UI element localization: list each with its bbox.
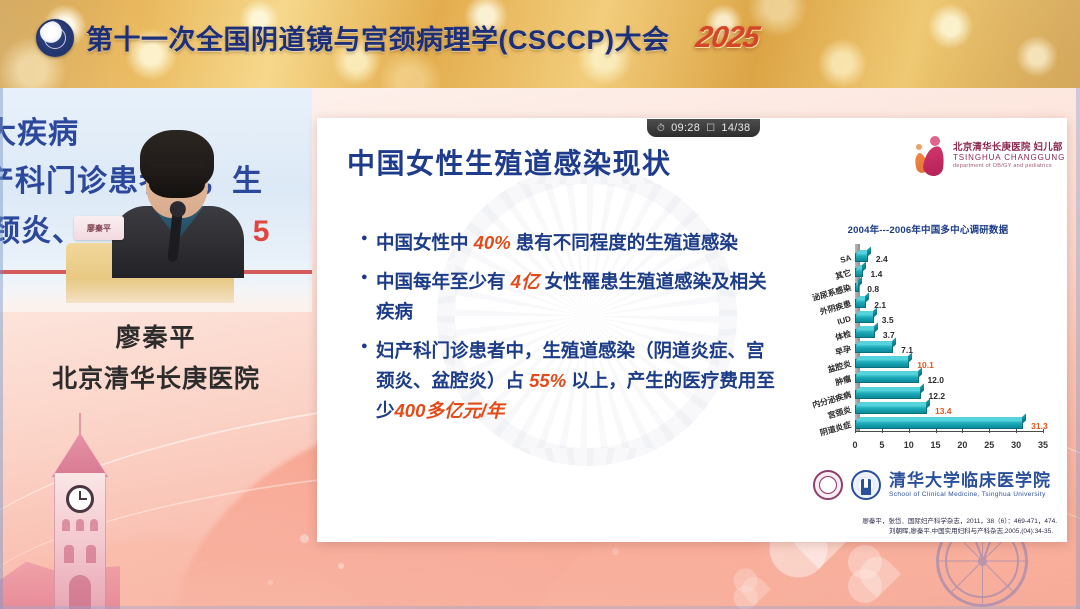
video-bottom-fade [0,278,312,312]
chart-bar: 12.0 [855,374,919,383]
tower-clock-icon [66,485,94,513]
banner-title: 第十一次全国阴道镜与宫颈病理学(CSCCP)大会 [86,18,670,57]
chart-tick-label: 30 [1011,440,1021,450]
banner-glow-right [930,0,1080,88]
chart-value-label: 12.0 [927,375,944,385]
chart-bar-row: 体检3.7 [855,326,1043,341]
chart-category-label: 肿瘤 [834,374,852,389]
slide-footer: 清华大学临床医学院 School of Clinical Medicine, T… [747,470,1057,536]
logo-department: department of OB/GY and pediatrics [953,163,1065,169]
bullet-highlight: 4亿 [511,271,540,292]
banner-content: 第十一次全国阴道镜与宫颈病理学(CSCCP)大会 2025 [36,18,758,57]
bokeh-dot [338,563,344,569]
hospital-logo: 北京清华长庚医院 妇儿部 TSINGHUA CHANGGUNG departme… [913,130,1053,182]
chart-bar-row: 早孕7.1 [855,341,1043,356]
page-indicator: 14/38 [721,122,750,134]
chart-category-label: IUD [837,314,853,326]
bullet-highlight: 40% [474,232,511,253]
survey-bar-chart: 2004年---2006年中国多中心调研数据 SA2.4其它1.4泌尿系感染0.… [797,222,1059,474]
chart-category-label: 阴道炎症 [819,419,853,438]
tower-window [62,519,70,531]
bg-screen-text: 大疾病 [0,108,79,152]
chart-tick [989,429,990,433]
bullet-text-post: 患有不同程度的生殖道感染 [511,232,738,253]
chart-tick-label: 20 [957,440,967,450]
chart-tick-label: 25 [984,440,994,450]
chart-value-label: 2.4 [876,254,888,264]
footer-logos: 清华大学临床医学院 School of Clinical Medicine, T… [813,470,1051,500]
bokeh-dot [612,548,619,555]
slide-title: 中国女性生殖道感染现状 [347,142,672,182]
page-icon: ☐ [706,123,715,134]
logo-name-en: TSINGHUA CHANGGUNG [953,154,1065,163]
logo-flower-icon [913,136,947,176]
chart-value-label: 0.8 [867,284,879,294]
tower-window [86,545,96,563]
bullet-item: 中国每年至少有 4亿 女性罹患生殖道感染及相关疾病 [361,267,781,327]
chart-bar: 7.1 [855,344,893,353]
bg-screen-text: 产科门诊患者中，生 [0,156,263,200]
citation-line-2: 刘朝晖,廖秦平.中国实用妇科与产科杂志,2005,(04):34-35. [747,527,1057,536]
chart-bars: SA2.4其它1.4泌尿系感染0.8外阴疾患2.1IUD3.5体检3.7早孕7.… [855,250,1043,432]
chart-bar-row: 阴道炎症31.3 [855,417,1043,432]
chart-category-label: 体检 [834,328,852,343]
speaker-name: 廖秦平 [0,318,312,354]
chart-bar: 0.8 [855,283,859,292]
chart-category-label: 其它 [834,267,852,282]
chart-tick-label: 10 [904,440,914,450]
chart-bar: 3.5 [855,314,874,323]
bullet-highlight-2: 400多亿元/年 [395,400,505,421]
cscp-seal-icon [36,19,74,57]
presentation-slide[interactable]: ⏱ 09:28 ☐ 14/38 中国女性生殖道感染现状 北京清华长庚医院 妇儿部… [317,118,1067,542]
clock-tower-illustration [44,413,116,609]
bullet-item: 妇产科门诊患者中，生殖道感染（阴道炎症、宫颈炎、盆腔炎）占 55% 以上，产生的… [361,336,781,426]
chart-category-label: SA [839,253,852,265]
tower-roof [52,433,108,477]
bullet-text-pre: 中国每年至少有 [376,271,511,292]
slide-status-badge: ⏱ 09:28 ☐ 14/38 [647,119,760,137]
university-seal-icon [813,470,843,500]
chart-tick [936,429,937,433]
bokeh-dot [268,580,273,585]
chart-tick [882,429,883,433]
chart-tick [1016,429,1017,433]
chart-tick [962,429,963,433]
chart-bar-row: 盆腔炎10.1 [855,356,1043,371]
ferris-spoke [937,561,983,562]
chart-bar: 12.2 [855,390,921,399]
screen-root: 第十一次全国阴道镜与宫颈病理学(CSCCP)大会 2025 [0,0,1080,609]
chart-category-label: 早孕 [834,343,852,358]
conference-banner: 第十一次全国阴道镜与宫颈病理学(CSCCP)大会 2025 [0,0,1080,88]
chart-plot: SA2.4其它1.4泌尿系感染0.8外阴疾患2.1IUD3.5体检3.7早孕7.… [797,244,1059,454]
chart-bar-row: IUD3.5 [855,311,1043,326]
chart-bar-row: 内分泌疾病12.2 [855,387,1043,402]
speaker-nameplate: 廖秦平 [74,216,124,240]
chart-value-label: 3.5 [882,315,894,325]
chart-tick [855,429,856,433]
chart-bar-row: SA2.4 [855,250,1043,265]
chart-value-label: 31.3 [1031,421,1048,431]
tower-arch-door [69,575,91,609]
chart-plot-area: SA2.4其它1.4泌尿系感染0.8外阴疾患2.1IUD3.5体检3.7早孕7.… [855,250,1043,432]
elapsed-time: 09:28 [671,122,700,134]
bg-screen-text-accent: 5 [253,215,271,248]
speaker-caption: 廖秦平 北京清华长庚医院 [0,318,312,395]
logo-dot-large [930,136,940,146]
chart-bar-row: 外阴疾患2.1 [855,296,1043,311]
hospital-seal-icon [851,470,881,500]
footer-name-en: School of Clinical Medicine, Tsinghua Un… [889,491,1051,498]
chart-bar-row: 泌尿系感染0.8 [855,280,1043,295]
chart-bar: 10.1 [855,359,909,368]
tower-window [64,545,74,563]
chart-tick [1043,429,1044,433]
logo-petal-magenta [922,145,946,177]
chart-value-label: 12.2 [929,391,946,401]
logo-text: 北京清华长庚医院 妇儿部 TSINGHUA CHANGGUNG departme… [953,143,1065,169]
chart-tick-label: 35 [1038,440,1048,450]
footer-institution: 清华大学临床医学院 School of Clinical Medicine, T… [889,472,1051,498]
chart-bar: 31.3 [855,420,1023,429]
ferris-spoke [982,561,983,607]
chart-bar-row: 其它1.4 [855,265,1043,280]
logo-dot-small [916,144,922,150]
frame-edge-left [0,88,3,609]
bullet-item: 中国女性中 40% 患有不同程度的生殖道感染 [361,228,781,258]
slide-citations: 廖秦平，张岱．国际妇产科学杂志，2011，38（6）：469-471，474. … [747,517,1057,536]
clock-icon: ⏱ [657,123,665,134]
bokeh-dot [300,534,309,543]
chart-tick [909,429,910,433]
chart-value-label: 13.4 [935,406,952,416]
chart-bar: 13.4 [855,405,927,414]
chart-tick-label: 5 [879,440,884,450]
chart-bar: 2.1 [855,299,866,308]
ferris-spoke [983,561,1029,562]
bullet-text-pre: 中国女性中 [376,232,474,253]
speaker-affiliation: 北京清华长庚医院 [0,359,312,395]
chart-value-label: 1.4 [871,269,883,279]
frame-edge-right [1076,88,1080,609]
speaker-video-panel[interactable]: 大疾病 产科门诊患者中，生 颈炎、 占 5 廖秦平 [0,88,312,312]
banner-year: 2025 [693,21,761,55]
citation-line-1: 廖秦平，张岱．国际妇产科学杂志，2011，38（6）：469-471，474. [747,517,1057,526]
chart-tick-label: 15 [931,440,941,450]
footer-name-cn: 清华大学临床医学院 [889,472,1051,491]
chart-title: 2004年---2006年中国多中心调研数据 [797,222,1059,236]
bullet-highlight: 55% [529,370,566,391]
slide-bullet-list: 中国女性中 40% 患有不同程度的生殖道感染 中国每年至少有 4亿 女性罹患生殖… [361,228,781,435]
speaker-hair [140,130,214,190]
chart-tick-label: 0 [852,440,857,450]
chart-bar-row: 肿瘤12.0 [855,371,1043,386]
chart-bar-row: 宫颈炎13.4 [855,402,1043,417]
chart-bar: 3.7 [855,329,875,338]
tower-window [76,519,84,531]
tower-window [90,519,98,531]
